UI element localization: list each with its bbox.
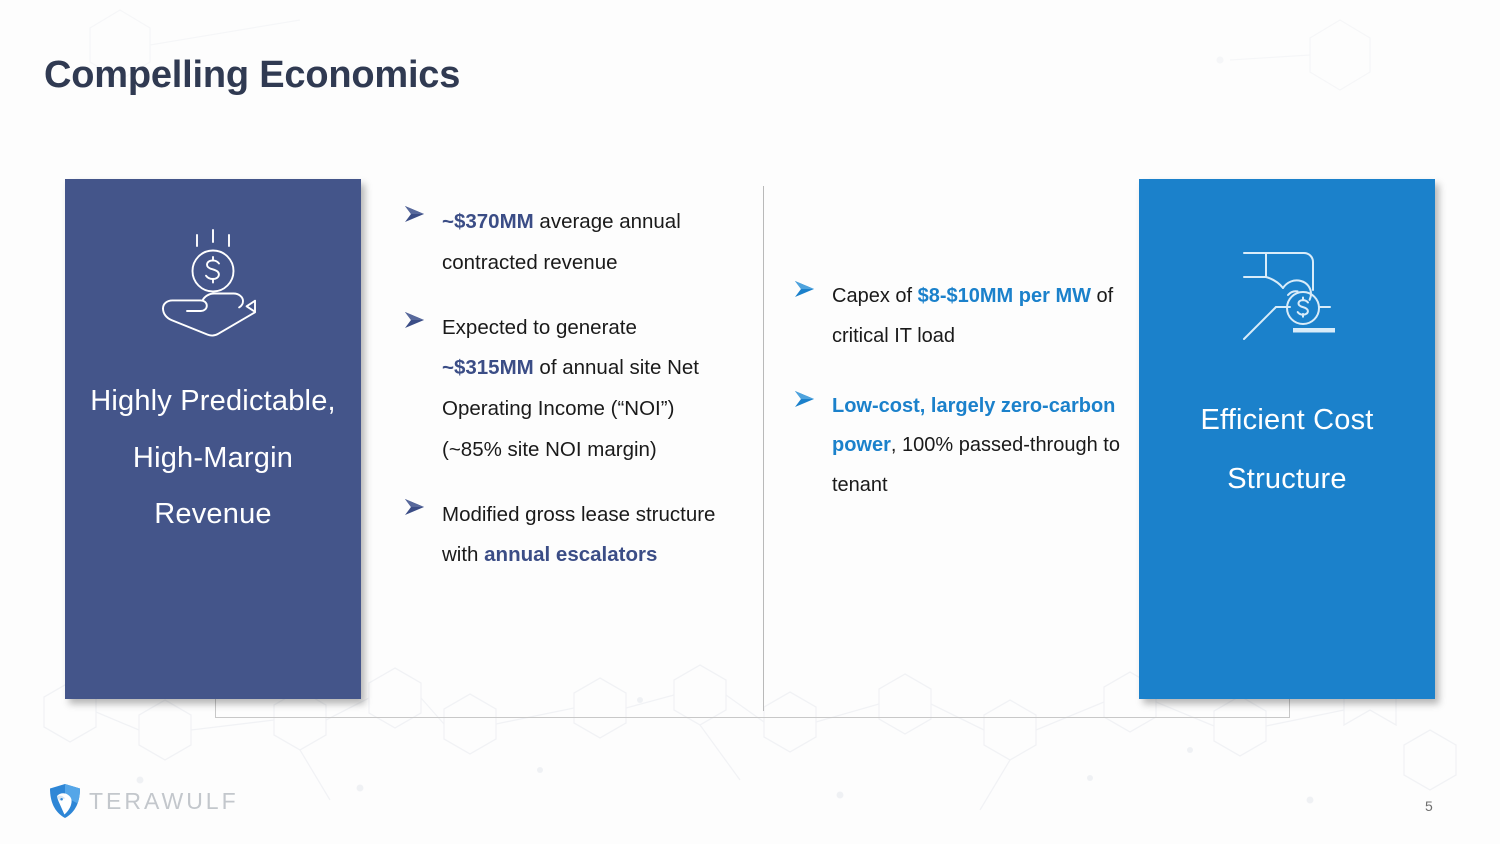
bullet-highlight: annual escalators — [484, 543, 657, 566]
bullet-text: Expected to generate ~$315MM of annual s… — [442, 308, 734, 471]
bullet-highlight: $8-$10MM per MW — [918, 285, 1091, 307]
terawulf-logo: TERAWULF — [48, 783, 239, 819]
right-highlight-panel: Efficient Cost Structure — [1139, 179, 1435, 699]
bullet-highlight: ~$315MM — [442, 356, 534, 379]
list-item: Capex of $8-$10MM per MW of critical IT … — [794, 277, 1124, 357]
bullet-text: Capex of $8-$10MM per MW of critical IT … — [832, 277, 1124, 357]
bullet-text: Modified gross lease structure with annu… — [442, 495, 734, 577]
list-item: ~$370MM average annual contracted revenu… — [404, 202, 734, 284]
hexagon-watermark-top — [0, 0, 1500, 200]
right-panel-title: Efficient Cost Structure — [1155, 391, 1419, 510]
left-bullet-list: ~$370MM average annual contracted revenu… — [404, 202, 734, 600]
hand-inserting-coin-icon — [1224, 243, 1350, 347]
page-number: 5 — [1425, 798, 1433, 814]
bullet-highlight: ~$370MM — [442, 210, 534, 233]
list-item: Low-cost, largely zero-carbon power, 100… — [794, 387, 1124, 506]
content-outline-frame — [215, 183, 1290, 718]
column-divider — [763, 186, 764, 711]
wolf-shield-logo-icon — [48, 783, 82, 819]
slide-canvas: Compelling Economics Highly Predictable,… — [0, 0, 1500, 844]
hand-holding-coin-icon — [150, 227, 276, 339]
bullet-plain: Expected to generate — [442, 316, 637, 339]
bullet-text: ~$370MM average annual contracted revenu… — [442, 202, 734, 284]
logo-wordmark: TERAWULF — [89, 788, 239, 815]
list-item: Expected to generate ~$315MM of annual s… — [404, 308, 734, 471]
arrowhead-bullet-icon — [404, 202, 442, 228]
page-title: Compelling Economics — [44, 54, 460, 97]
arrowhead-bullet-icon — [794, 387, 832, 413]
bullet-text: Low-cost, largely zero-carbon power, 100… — [832, 387, 1124, 506]
arrowhead-bullet-icon — [404, 495, 442, 521]
right-bullet-list: Capex of $8-$10MM per MW of critical IT … — [794, 277, 1124, 536]
arrowhead-bullet-icon — [794, 277, 832, 303]
bullet-plain: Capex of — [832, 285, 918, 307]
left-highlight-panel: Highly Predictable, High-Margin Revenue — [65, 179, 361, 699]
left-panel-title: Highly Predictable, High-Margin Revenue — [81, 373, 345, 543]
arrowhead-bullet-icon — [404, 308, 442, 334]
list-item: Modified gross lease structure with annu… — [404, 495, 734, 577]
